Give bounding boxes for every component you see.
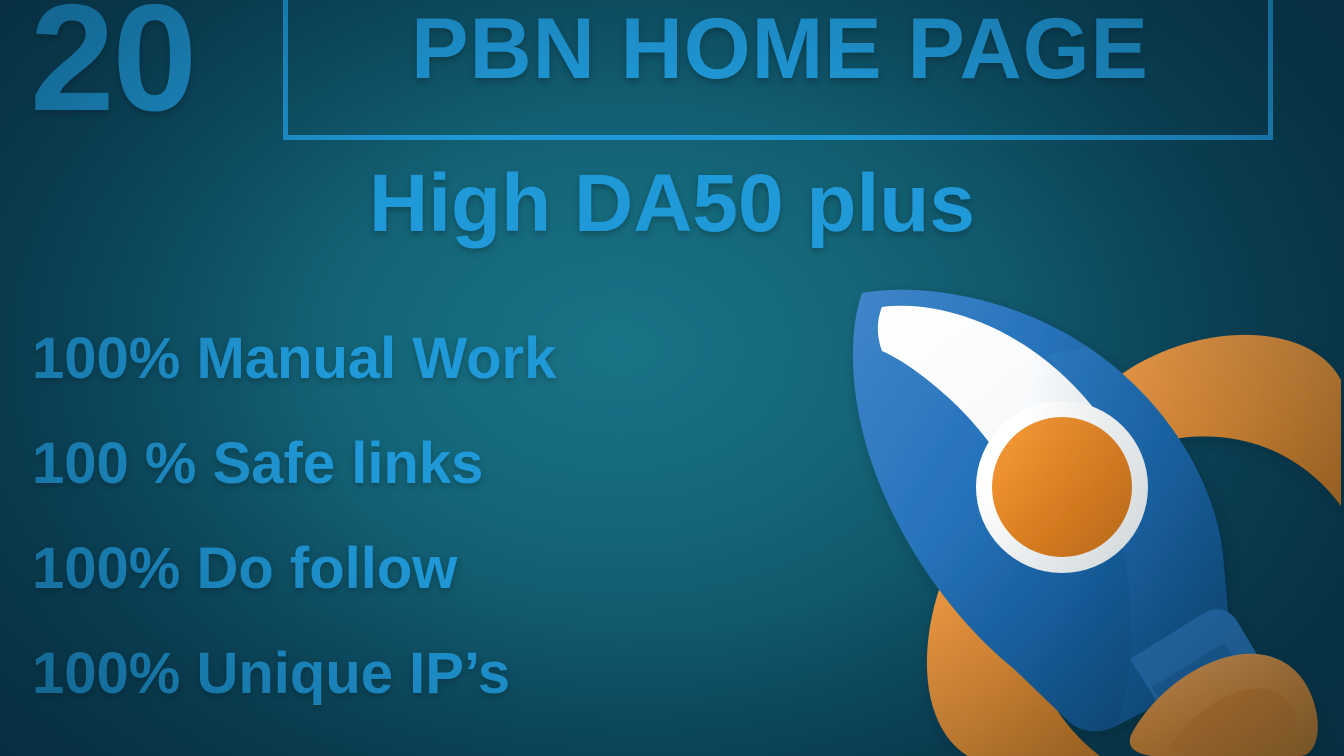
- feature-item: 100% Do follow: [32, 540, 752, 598]
- feature-item: 100% Manual Work: [32, 330, 752, 388]
- subtitle: High DA50 plus: [0, 163, 1344, 245]
- promo-poster: 20 PBN HOME PAGE High DA50 plus 100% Man…: [0, 0, 1344, 756]
- feature-item: 100 % Safe links: [32, 435, 752, 493]
- feature-item: 100% Unique IP’s: [32, 645, 752, 703]
- rocket-icon: [800, 255, 1344, 756]
- quantity-number: 20: [30, 0, 195, 134]
- page-title: PBN HOME PAGE: [300, 6, 1260, 92]
- feature-list: 100% Manual Work 100 % Safe links 100% D…: [32, 330, 752, 750]
- rocket-porthole: [976, 401, 1148, 573]
- headline-row: 20 PBN HOME PAGE: [0, 0, 1344, 150]
